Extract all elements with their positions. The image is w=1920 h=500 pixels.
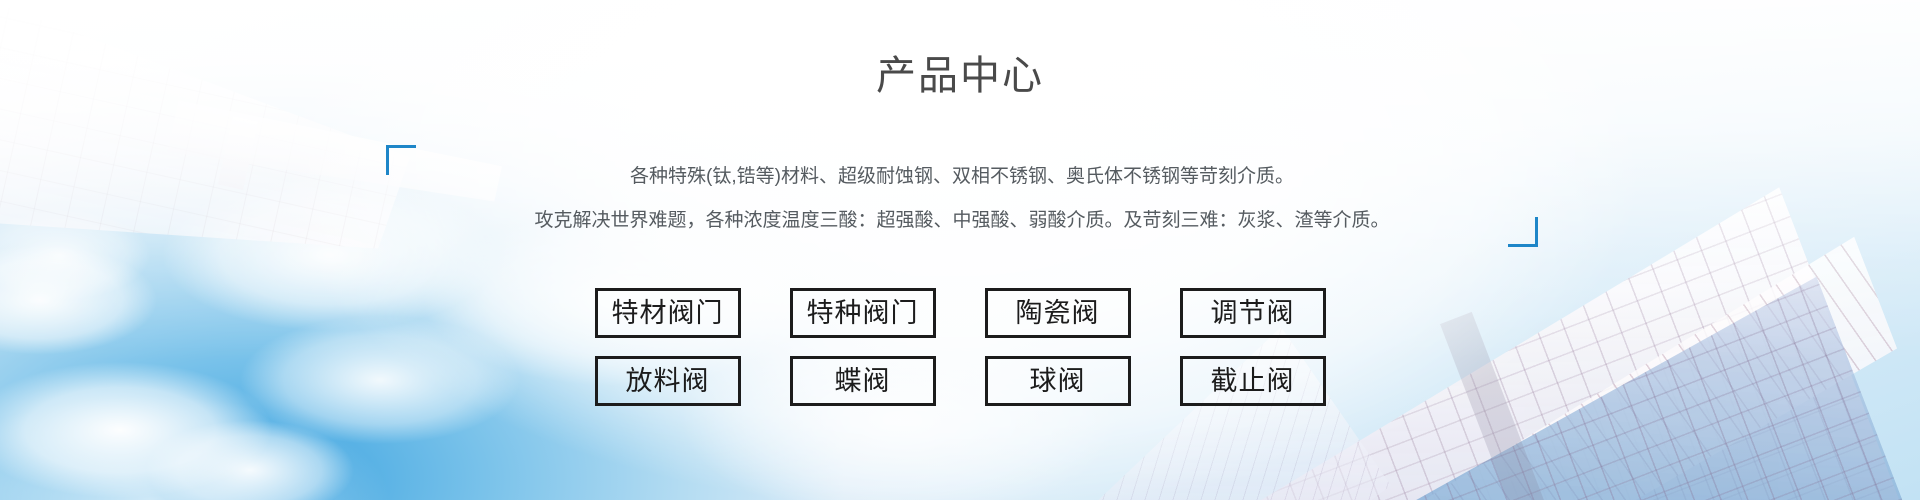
description-line-1: 各种特殊(钛,锆等)材料、超级耐蚀钢、双相不锈钢、奥氏体不锈钢等苛刻介质。 <box>386 167 1538 186</box>
page-title: 产品中心 <box>0 52 1920 100</box>
category-button-taoci-fa[interactable]: 陶瓷阀 <box>985 288 1131 338</box>
product-category-row-2: 放料阀 蝶阀 球阀 截止阀 <box>595 356 1326 406</box>
category-button-tecai-famen[interactable]: 特材阀门 <box>595 288 741 338</box>
product-category-grid: 特材阀门 特种阀门 陶瓷阀 调节阀 放料阀 蝶阀 球阀 截止阀 <box>0 288 1920 406</box>
category-button-jiezhi-fa[interactable]: 截止阀 <box>1180 356 1326 406</box>
description-line-2: 攻克解决世界难题，各种浓度温度三酸：超强酸、中强酸、弱酸介质。及苛刻三难：灰浆、… <box>386 211 1538 230</box>
category-button-tezhong-famen[interactable]: 特种阀门 <box>790 288 936 338</box>
product-category-row-1: 特材阀门 特种阀门 陶瓷阀 调节阀 <box>595 288 1326 338</box>
product-center-banner: 产品中心 各种特殊(钛,锆等)材料、超级耐蚀钢、双相不锈钢、奥氏体不锈钢等苛刻介… <box>0 0 1920 500</box>
description-block: 各种特殊(钛,锆等)材料、超级耐蚀钢、双相不锈钢、奥氏体不锈钢等苛刻介质。 攻克… <box>386 145 1538 247</box>
category-button-die-fa[interactable]: 蝶阀 <box>790 356 936 406</box>
category-button-fangliao-fa[interactable]: 放料阀 <box>595 356 741 406</box>
category-button-tiaojie-fa[interactable]: 调节阀 <box>1180 288 1326 338</box>
banner-content: 产品中心 各种特殊(钛,锆等)材料、超级耐蚀钢、双相不锈钢、奥氏体不锈钢等苛刻介… <box>0 0 1920 500</box>
category-button-qiu-fa[interactable]: 球阀 <box>985 356 1131 406</box>
